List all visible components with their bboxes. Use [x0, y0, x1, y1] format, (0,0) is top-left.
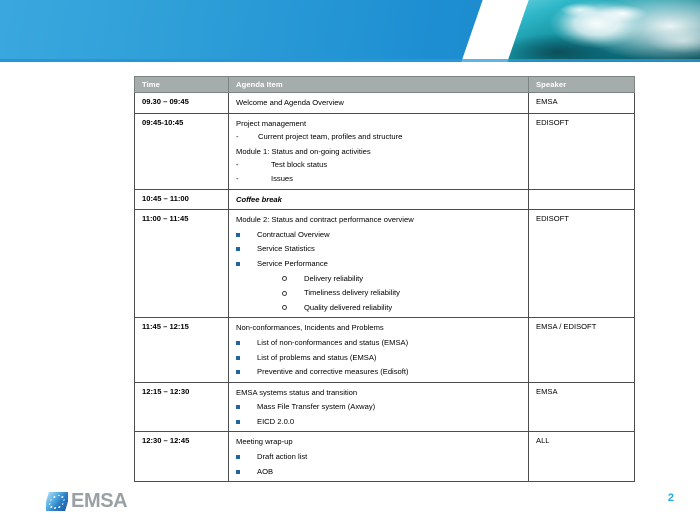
agenda-bullet-item: AOB [236, 468, 522, 476]
cell-time: 12:30 – 12:45 [135, 432, 229, 482]
agenda-bullet-label: Contractual Overview [257, 230, 330, 239]
table-row: 12:15 – 12:30EMSA systems status and tra… [135, 382, 635, 432]
cell-agenda-item: Module 2: Status and contract performanc… [229, 210, 529, 318]
square-bullet-icon [236, 420, 240, 424]
agenda-item-title: Non-conformances, Incidents and Problems [236, 324, 522, 332]
square-bullet-icon [236, 341, 240, 345]
agenda-table: Time Agenda Item Speaker 09.30 – 09:45We… [134, 76, 635, 482]
column-header-time: Time [135, 77, 229, 93]
agenda-bullet-label: List of problems and status (EMSA) [257, 353, 376, 362]
agenda-dash-item: -Issues [236, 175, 522, 183]
agenda-dash-item: -Test block status [236, 161, 522, 169]
emsa-flag-icon [46, 492, 68, 511]
banner-underline [0, 59, 700, 62]
square-bullet-icon [236, 405, 240, 409]
table-row: 10:45 – 11:00Coffee break [135, 189, 635, 210]
circle-bullet-icon [282, 291, 287, 296]
cell-speaker: EDISOFT [529, 210, 635, 318]
agenda-item-title: EMSA systems status and transition [236, 389, 522, 397]
cell-agenda-item: Coffee break [229, 189, 529, 210]
agenda-subbullet-label: Quality delivered reliability [304, 303, 392, 312]
agenda-subbullet-label: Timeliness delivery reliability [304, 288, 400, 297]
agenda-bullet-item: List of problems and status (EMSA) [236, 354, 522, 362]
agenda-bullet-label: Draft action list [257, 452, 307, 461]
square-bullet-icon [236, 247, 240, 251]
agenda-bullet-label: Service Statistics [257, 244, 315, 253]
table-row: 12:30 – 12:45Meeting wrap-upDraft action… [135, 432, 635, 482]
table-row: 11:45 – 12:15Non-conformances, Incidents… [135, 318, 635, 382]
square-bullet-icon [236, 356, 240, 360]
agenda-subbullet-item: Timeliness delivery reliability [236, 289, 522, 297]
square-bullet-icon [236, 370, 240, 374]
cell-speaker: ALL [529, 432, 635, 482]
cell-time: 09:45-10:45 [135, 113, 229, 189]
agenda-item-title: Welcome and Agenda Overview [236, 99, 522, 107]
agenda-bullet-label: Preventive and corrective measures (Edis… [257, 367, 409, 376]
cell-time: 09.30 – 09:45 [135, 93, 229, 114]
square-bullet-icon [236, 233, 240, 237]
table-row: 09.30 – 09:45Welcome and Agenda Overview… [135, 93, 635, 114]
square-bullet-icon [236, 455, 240, 459]
emsa-logo: EMSA [46, 489, 127, 513]
agenda-bullet-item: Contractual Overview [236, 231, 522, 239]
cell-time: 11:00 – 11:45 [135, 210, 229, 318]
agenda-item-title: Meeting wrap-up [236, 438, 522, 446]
cell-agenda-item: EMSA systems status and transitionMass F… [229, 382, 529, 432]
agenda-bullet-label: List of non-conformances and status (EMS… [257, 338, 408, 347]
cell-time: 10:45 – 11:00 [135, 189, 229, 210]
square-bullet-icon [236, 262, 240, 266]
cell-speaker: EDISOFT [529, 113, 635, 189]
agenda-bullet-item: Preventive and corrective measures (Edis… [236, 368, 522, 376]
agenda-bullet-item: Service Performance [236, 260, 522, 268]
column-header-speaker: Speaker [529, 77, 635, 93]
agenda-item-title: Coffee break [236, 196, 522, 204]
agenda-dash-item: -Current project team, profiles and stru… [236, 133, 522, 141]
cell-time: 11:45 – 12:15 [135, 318, 229, 382]
circle-bullet-icon [282, 276, 287, 281]
agenda-table-body: 09.30 – 09:45Welcome and Agenda Overview… [135, 93, 635, 482]
table-row: 09:45-10:45Project management-Current pr… [135, 113, 635, 189]
agenda-bullet-item: Draft action list [236, 453, 522, 461]
cell-speaker [529, 189, 635, 210]
agenda-dash-label: Issues [257, 175, 293, 183]
dash-bullet-icon: - [236, 175, 239, 183]
slide-header-banner [0, 0, 700, 62]
agenda-bullet-item: Mass File Transfer system (Axway) [236, 403, 522, 411]
agenda-plain-line: Module 1: Status and on-going activities [236, 148, 522, 156]
dash-bullet-icon: - [236, 161, 239, 169]
agenda-bullet-item: List of non-conformances and status (EMS… [236, 339, 522, 347]
table-header-row: Time Agenda Item Speaker [135, 77, 635, 93]
cell-speaker: EMSA / EDISOFT [529, 318, 635, 382]
agenda-item-title: Module 2: Status and contract performanc… [236, 216, 522, 224]
emsa-wordmark: EMSA [71, 491, 127, 511]
agenda-item-title: Project management [236, 120, 522, 128]
agenda-subbullet-item: Quality delivered reliability [236, 304, 522, 312]
dash-bullet-icon: - [236, 133, 239, 141]
agenda-bullet-item: EICD 2.0.0 [236, 418, 522, 426]
agenda-bullet-label: AOB [257, 467, 273, 476]
page-number: 2 [668, 492, 674, 504]
cell-agenda-item: Welcome and Agenda Overview [229, 93, 529, 114]
circle-bullet-icon [282, 305, 287, 310]
agenda-dash-label: Current project team, profiles and struc… [244, 133, 402, 141]
cell-speaker: EMSA [529, 93, 635, 114]
agenda-bullet-label: Mass File Transfer system (Axway) [257, 402, 375, 411]
agenda-table-head: Time Agenda Item Speaker [135, 77, 635, 93]
table-row: 11:00 – 11:45Module 2: Status and contra… [135, 210, 635, 318]
square-bullet-icon [236, 470, 240, 474]
cell-agenda-item: Project management-Current project team,… [229, 113, 529, 189]
agenda-dash-label: Test block status [257, 161, 327, 169]
agenda-bullet-label: EICD 2.0.0 [257, 417, 294, 426]
cell-time: 12:15 – 12:30 [135, 382, 229, 432]
agenda-subbullet-label: Delivery reliability [304, 274, 363, 283]
column-header-agenda-item: Agenda Item [229, 77, 529, 93]
cell-agenda-item: Meeting wrap-upDraft action listAOB [229, 432, 529, 482]
agenda-bullet-label: Service Performance [257, 259, 328, 268]
agenda-subbullet-item: Delivery reliability [236, 275, 522, 283]
cell-agenda-item: Non-conformances, Incidents and Problems… [229, 318, 529, 382]
cell-speaker: EMSA [529, 382, 635, 432]
agenda-bullet-item: Service Statistics [236, 245, 522, 253]
